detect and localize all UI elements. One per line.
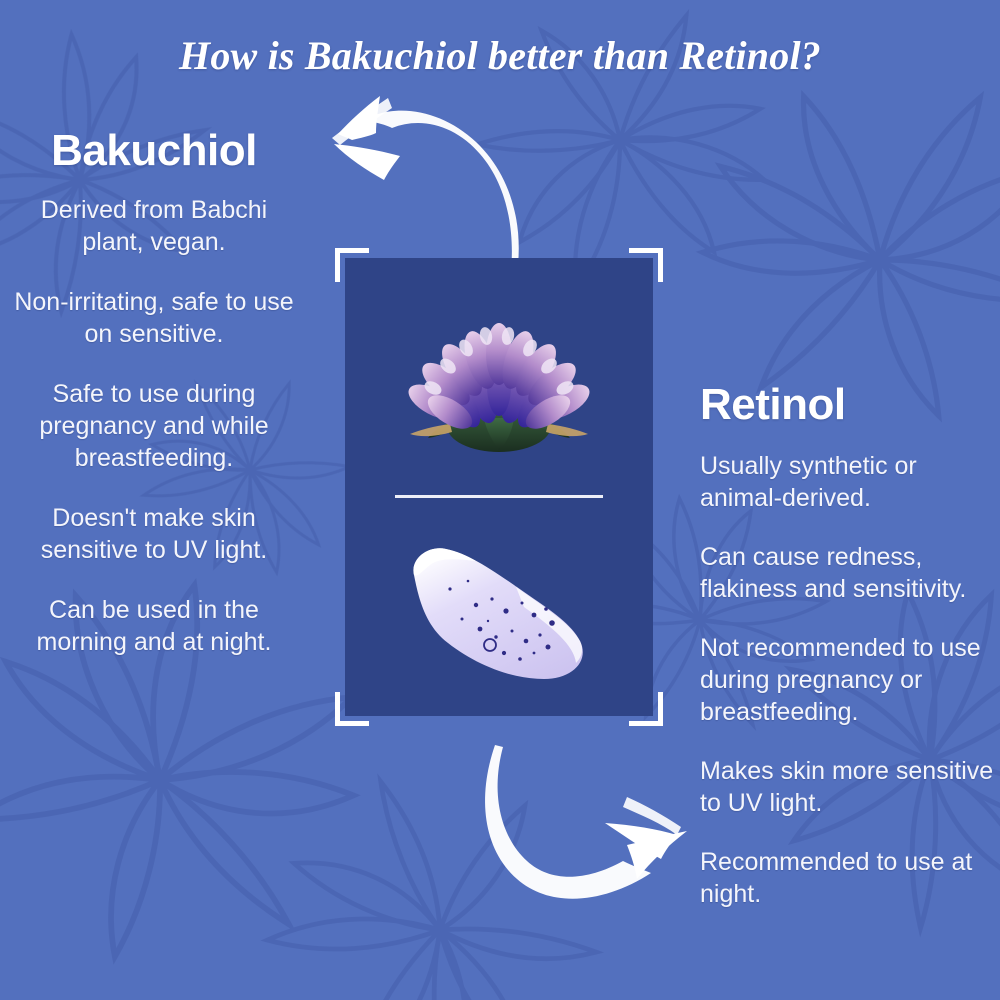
retinol-heading: Retinol xyxy=(700,382,996,428)
arrow-to-retinol-icon xyxy=(455,745,705,910)
retinol-column: Retinol Usually synthetic or animal-deri… xyxy=(700,382,996,937)
bakuchiol-point-2: Non-irritating, safe to use on sensitive… xyxy=(8,286,300,350)
corner-bracket-top-right xyxy=(629,248,663,282)
retinol-point-5: Recommended to use at night. xyxy=(700,846,996,910)
bakuchiol-column: Bakuchiol Derived from Babchi plant, veg… xyxy=(8,128,300,686)
bakuchiol-point-4: Doesn't make skin sensitive to UV light. xyxy=(8,502,300,566)
corner-bracket-top-left xyxy=(335,248,369,282)
retinol-point-2: Can cause redness, flakiness and sensiti… xyxy=(700,541,996,605)
bakuchiol-point-3: Safe to use during pregnancy and while b… xyxy=(8,378,300,474)
retinol-point-1: Usually synthetic or animal-derived. xyxy=(700,450,996,514)
panel-divider xyxy=(395,495,603,498)
page-title: How is Bakuchiol better than Retinol? xyxy=(0,32,1000,79)
bakuchiol-point-5: Can be used in the morning and at night. xyxy=(8,594,300,658)
gel-cream-swatch-image xyxy=(345,520,653,705)
retinol-point-3: Not recommended to use during pregnancy … xyxy=(700,632,996,728)
retinol-point-4: Makes skin more sensitive to UV light. xyxy=(700,755,996,819)
bakuchiol-heading: Bakuchiol xyxy=(8,128,300,174)
comparison-media-panel xyxy=(345,258,653,716)
bakuchiol-point-1: Derived from Babchi plant, vegan. xyxy=(8,194,300,258)
babchi-flower-image xyxy=(345,288,653,488)
